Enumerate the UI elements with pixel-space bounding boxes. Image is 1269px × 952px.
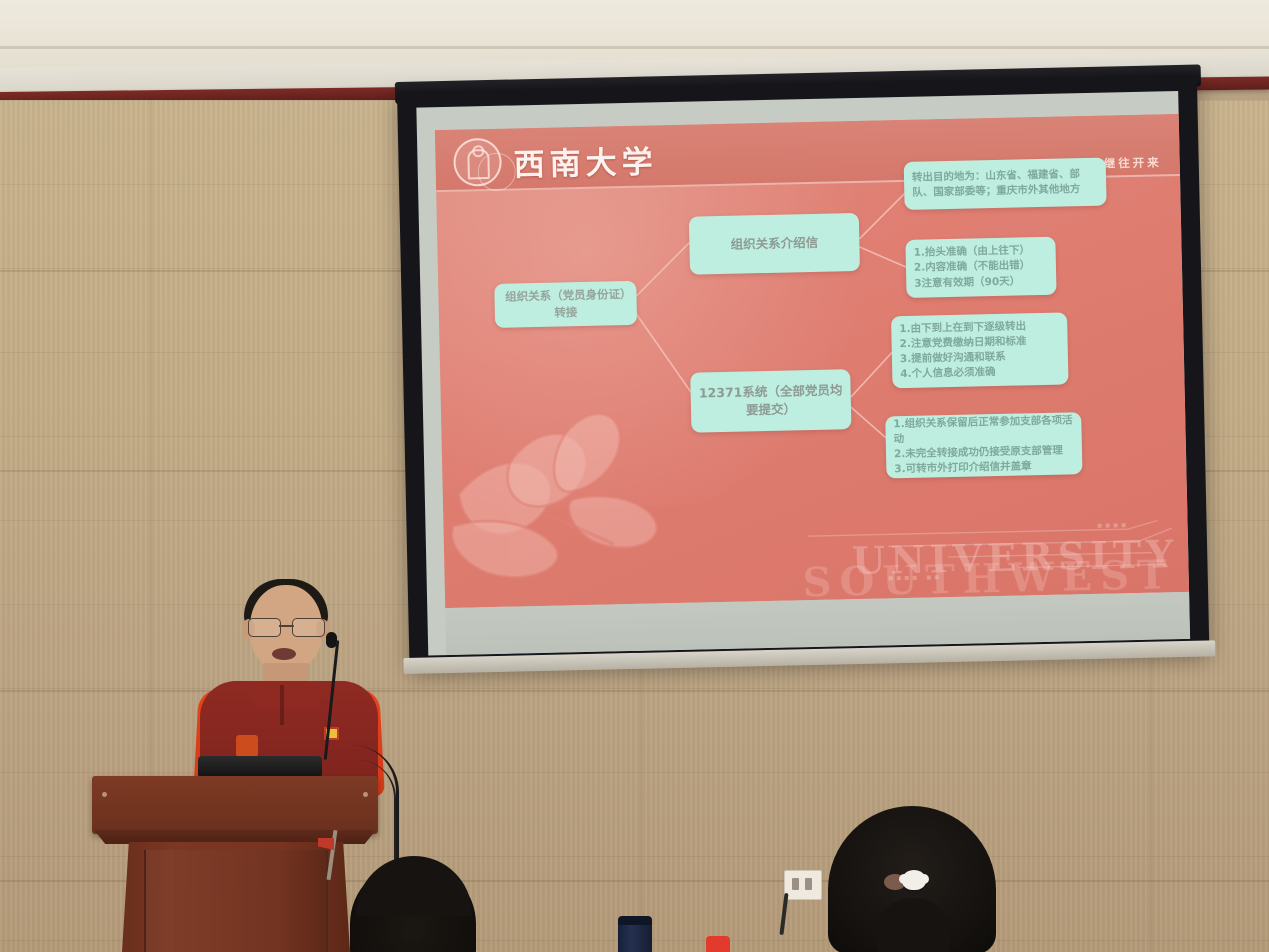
- presentation-slide: 西南大学 含弘光大 · 继往开来: [435, 114, 1189, 608]
- diagram-node-12371[interactable]: 12371系统（全部党员均要提交）: [690, 369, 851, 432]
- diagram-node-root[interactable]: 组织关系（党员身份证）转接: [494, 281, 637, 328]
- projected-surface: 西南大学 含弘光大 · 继往开来: [416, 91, 1190, 655]
- lecture-hall-scene: 西南大学 含弘光大 · 继往开来: [0, 0, 1269, 952]
- water-bottle-cap: [618, 916, 652, 925]
- diagram-leaf-transfer-steps[interactable]: 1.由下到上在到下逐级转出 2.注意党费缴纳日期和标准 3.提前做好沟通和联系 …: [891, 312, 1069, 388]
- podium-top: [92, 776, 378, 834]
- dark-blue-water-bottle[interactable]: [618, 922, 652, 952]
- podium-front-panel: [144, 850, 328, 952]
- podium-screw: [102, 792, 107, 797]
- diagram-leaf-letter-rules[interactable]: 1.抬头准确（由上往下） 2.内容准确（不能出错） 3注意有效期（90天）: [905, 237, 1056, 298]
- presenter-mouth: [272, 648, 296, 660]
- eyeglasses: [248, 618, 325, 635]
- diagram-leaf-membership-notes[interactable]: 1.组织关系保留后正常参加支部各项活动 2.未完全转接成功仍接受原支部管理 3.…: [885, 412, 1082, 478]
- projection-screen: 西南大学 含弘光大 · 继往开来: [397, 75, 1209, 672]
- wall-power-outlet[interactable]: [784, 870, 822, 900]
- wall-seam: [0, 690, 1269, 692]
- laptop-on-podium[interactable]: [198, 756, 322, 778]
- diagram-node-intro-letter[interactable]: 组织关系介绍信: [689, 213, 860, 275]
- shirt-logo: [236, 735, 258, 757]
- ceiling-seam: [0, 46, 1269, 49]
- shirt-placket: [280, 685, 284, 725]
- red-cap-bottle[interactable]: [706, 936, 730, 952]
- wooden-podium: [92, 776, 378, 952]
- diagram-leaf-destinations[interactable]: 转出目的地为：山东省、福建省、部队、国家部委等；重庆市外其他地方: [904, 158, 1107, 210]
- hair-clip: [902, 870, 926, 890]
